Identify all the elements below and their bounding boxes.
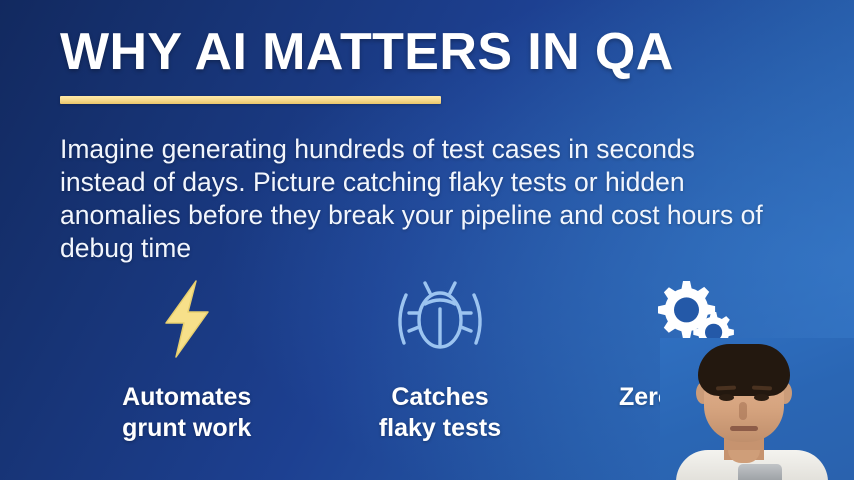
title-accent-bar xyxy=(60,96,441,104)
feature-label: Automates grunt work xyxy=(122,382,251,444)
presenter-mouth xyxy=(730,426,758,431)
feature-item-automates: Automates grunt work xyxy=(60,278,313,444)
feature-label: Catches flaky tests xyxy=(379,382,501,444)
presentation-slide: WHY AI MATTERS IN QA Imagine generating … xyxy=(0,0,854,480)
presenter-eye-left xyxy=(719,394,734,401)
presenter-video-overlay xyxy=(660,338,854,480)
lightning-bolt-icon xyxy=(156,278,218,360)
presenter-eye-right xyxy=(754,394,769,401)
bug-icon xyxy=(392,278,488,360)
presenter-nose xyxy=(739,402,747,420)
presenter-microphone xyxy=(738,464,782,480)
feature-item-catches: Catches flaky tests xyxy=(313,278,566,444)
slide-body-text: Imagine generating hundreds of test case… xyxy=(60,133,782,265)
page-title: WHY AI MATTERS IN QA xyxy=(60,22,820,82)
presenter-hair xyxy=(698,344,790,396)
presenter-figure xyxy=(660,338,854,480)
